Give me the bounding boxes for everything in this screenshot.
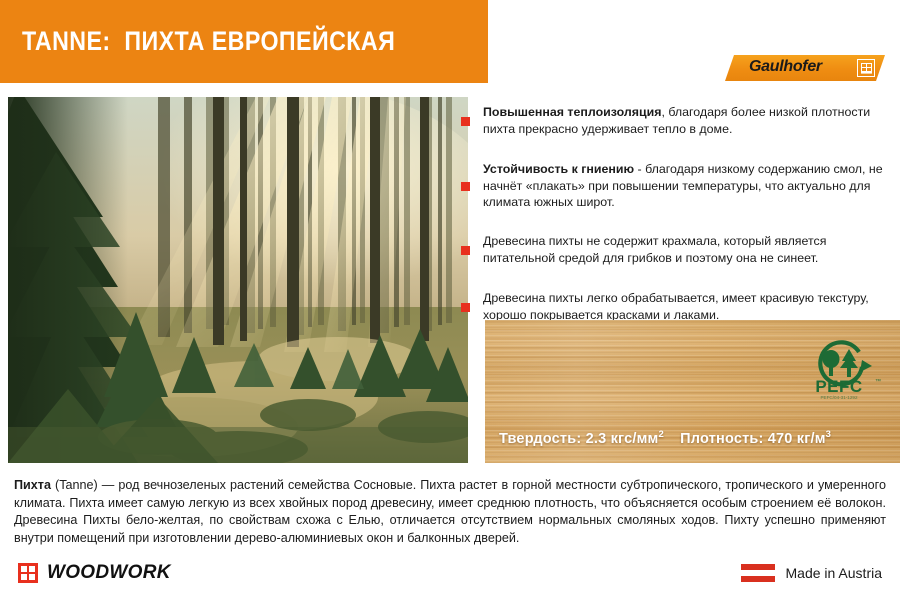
list-item: Древесина пихты не содержит крахмала, ко…	[461, 233, 895, 266]
bullet-marker-icon	[461, 182, 470, 191]
bullet-rest: Древесина пихты не содержит крахмала, ко…	[483, 234, 826, 265]
bullet-bold: Устойчивость к гниению	[483, 162, 634, 176]
benefits-list: Повышенная теплоизоляция, благодаря боле…	[461, 104, 895, 338]
density-value: 470 кг/м	[768, 431, 826, 447]
made-in-austria-label: Made in Austria	[786, 565, 883, 581]
pefc-code: PEFC/04-31-1292	[820, 395, 857, 400]
list-item: Древесина пихты легко обрабатывается, им…	[461, 290, 895, 323]
description-lead: Пихта	[14, 478, 51, 492]
forest-photo	[8, 97, 468, 463]
bullet-text: Древесина пихты легко обрабатывается, им…	[483, 290, 895, 323]
bullet-text: Повышенная теплоизоляция, благодаря боле…	[483, 104, 895, 137]
bullet-text: Устойчивость к гниению - благодаря низко…	[483, 161, 895, 211]
page-title: TANNE: ПИХТА ЕВРОПЕЙСКАЯ	[22, 24, 395, 58]
density-label: Плотность:	[680, 431, 763, 447]
slide-root: TANNE: ПИХТА ЕВРОПЕЙСКАЯ Gaulhofer	[0, 0, 900, 600]
bullet-marker-icon	[461, 246, 470, 255]
bullet-text: Древесина пихты не содержит крахмала, ко…	[483, 233, 895, 266]
description-body: — род вечнозеленых растений семейства Со…	[14, 478, 886, 545]
bullet-rest: Древесина пихты легко обрабатывается, им…	[483, 291, 869, 322]
wood-properties: Твердость: 2.3 кгс/мм2 Плотность: 470 кг…	[499, 429, 831, 447]
forest-photo-illustration	[8, 97, 468, 463]
pefc-certification-logo: PEFC ™ PEFC/04-31-1292	[796, 334, 882, 400]
density-exponent: 3	[826, 429, 831, 440]
hardness-exponent: 2	[658, 429, 663, 440]
pefc-trademark: ™	[875, 378, 881, 385]
window-grid-icon	[18, 563, 38, 583]
hardness-label: Твердость:	[499, 431, 581, 447]
hardness-value: 2.3 кгс/мм	[586, 431, 659, 447]
pefc-wordmark: PEFC	[815, 377, 862, 396]
window-icon	[857, 59, 875, 77]
made-in-austria: Made in Austria	[741, 564, 883, 582]
list-item: Повышенная теплоизоляция, благодаря боле…	[461, 104, 895, 137]
bullet-marker-icon	[461, 117, 470, 126]
bullet-bold: Повышенная теплоизоляция	[483, 105, 661, 119]
austria-flag-icon	[741, 564, 775, 582]
gaulhofer-wordmark: Gaulhofer	[749, 58, 822, 76]
bullet-marker-icon	[461, 303, 470, 312]
gaulhofer-logo[interactable]: Gaulhofer	[725, 55, 885, 81]
woodwork-logo[interactable]: WOODWORK	[18, 562, 171, 584]
description-latin: (Tanne)	[51, 478, 98, 492]
woodwork-wordmark: WOODWORK	[47, 562, 171, 584]
header-bar: TANNE: ПИХТА ЕВРОПЕЙСКАЯ	[0, 0, 488, 83]
description-paragraph: Пихта (Tanne) — род вечнозеленых растени…	[14, 477, 886, 547]
list-item: Устойчивость к гниению - благодаря низко…	[461, 161, 895, 211]
wood-sample-panel: PEFC ™ PEFC/04-31-1292 Твердость: 2.3 кг…	[485, 320, 900, 463]
